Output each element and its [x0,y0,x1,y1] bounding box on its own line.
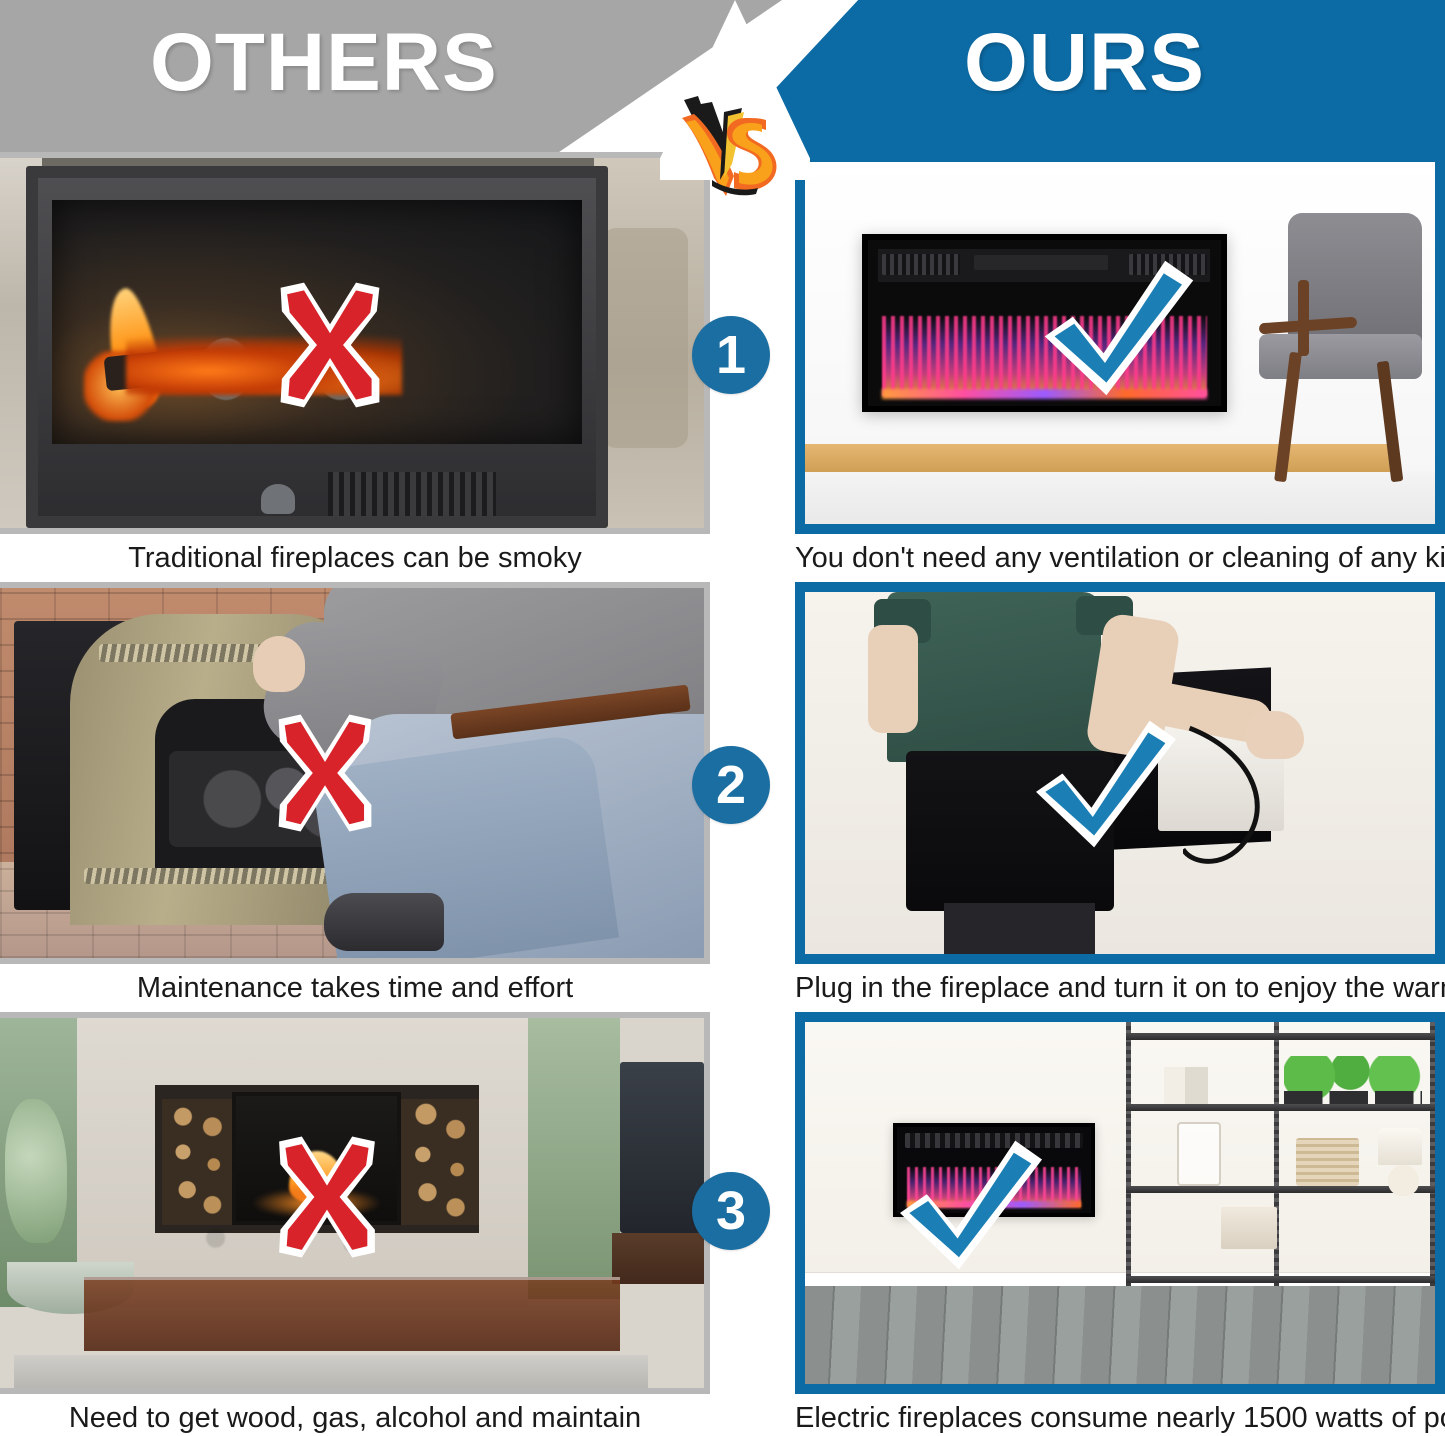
person-shoe [324,893,444,951]
decorative-ornament [1388,1165,1420,1197]
others-photo-card-3 [0,1012,710,1394]
ours-caption-2: Plug in the fireplace and turn it on to … [795,964,1445,1012]
fireplace-vent [328,472,495,516]
wicker-basket [1296,1138,1359,1186]
log-stack-left [162,1099,232,1225]
glass-coffee-table [84,1277,619,1351]
books [1164,1067,1208,1104]
gray-wood-floor [805,1286,1435,1384]
others-title: OTHERS [150,22,498,104]
power-cord [1183,715,1347,882]
person-legs [944,903,1095,954]
wooden-baseboard [805,444,1397,472]
step-badge-2: 2 [692,746,770,824]
others-photo-card-1 [0,152,710,534]
others-caption-3: Need to get wood, gas, alcohol and maint… [0,1394,710,1436]
ours-caption-3: Electric fireplaces consume nearly 1500 … [795,1394,1445,1436]
spring-trim-bottom [84,868,352,884]
check-mark [1039,258,1199,398]
person-arm-left [868,625,918,734]
shelf-board-1 [1126,1033,1435,1040]
shelf-board-2 [1126,1104,1435,1111]
ours-photo-card-3 [795,1012,1445,1394]
floor [805,472,1435,524]
ours-title: OURS [964,22,1205,104]
step-badge-1: 1 [692,316,770,394]
check-mark [1031,718,1181,850]
armchair [1259,213,1423,437]
shelf-post-right [1430,1022,1435,1286]
others-caption-2: Maintenance takes time and effort [0,964,710,1012]
person-hand [253,636,305,692]
vs-icon [672,92,792,202]
step-badge-3: 3 [692,1172,770,1250]
tv-stand [612,1233,704,1285]
planter-boxes [1284,1091,1423,1104]
fireplace-knob [261,484,295,514]
chair-arm-post [1298,280,1309,356]
chair-seat [1259,334,1423,379]
shag-rug [14,1355,648,1388]
cross-mark [256,1134,398,1260]
shelf-post-left [1126,1022,1131,1286]
comparison-infographic: OTHERS OURS [0,0,1445,1436]
others-caption-1: Traditional fireplaces can be smoky [0,534,710,582]
shelving-unit [1120,1022,1435,1286]
cross-mark [255,712,395,834]
others-photo-card-2 [0,582,710,964]
window-right-garden [528,1018,620,1299]
shelf-board-4 [1126,1276,1435,1283]
cross-mark [255,280,405,410]
storage-crate [1221,1207,1278,1249]
ours-caption-1: You don't need any ventilation or cleani… [795,534,1445,582]
vent-grill-left [882,254,960,275]
ours-photo-card-2 [795,582,1445,964]
glass-vase [1177,1122,1221,1185]
stone-surround-right [594,158,704,528]
table-lamp [1378,1128,1422,1165]
check-mark [895,1138,1047,1272]
log-stack-right [401,1099,478,1225]
header-banner: OTHERS OURS [0,0,1445,160]
ours-photo-card-1 [795,152,1445,534]
